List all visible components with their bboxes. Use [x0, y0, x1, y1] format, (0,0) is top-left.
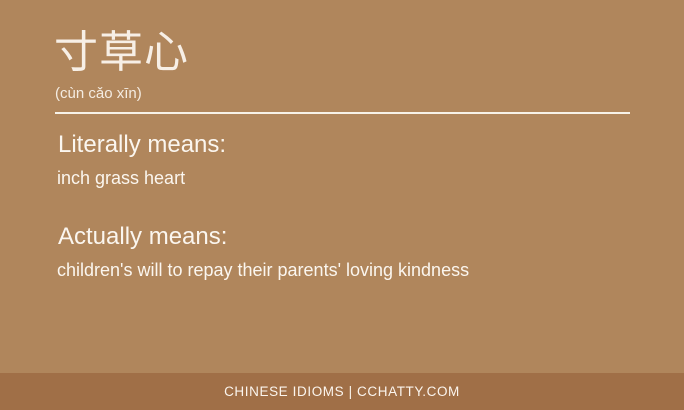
actual-meaning-text: children's will to repay their parents' … [0, 252, 684, 282]
actual-meaning-section: Actually means: children's will to repay… [0, 222, 684, 282]
card-content: 寸草心 (cùn cǎo xīn) Literally means: inch … [0, 0, 684, 373]
actual-meaning-heading: Actually means: [0, 222, 684, 252]
idiom-card: 寸草心 (cùn cǎo xīn) Literally means: inch … [0, 0, 684, 410]
literal-meaning-heading: Literally means: [0, 130, 684, 160]
footer-branding: CHINESE IDIOMS | CCHATTY.COM [224, 384, 460, 400]
footer-bar: CHINESE IDIOMS | CCHATTY.COM [0, 373, 684, 410]
literal-meaning-text: inch grass heart [0, 160, 684, 190]
idiom-title: 寸草心 [54, 27, 189, 79]
literal-meaning-section: Literally means: inch grass heart [0, 130, 684, 190]
header-divider [55, 112, 630, 114]
idiom-pinyin: (cùn cǎo xīn) [55, 84, 142, 104]
